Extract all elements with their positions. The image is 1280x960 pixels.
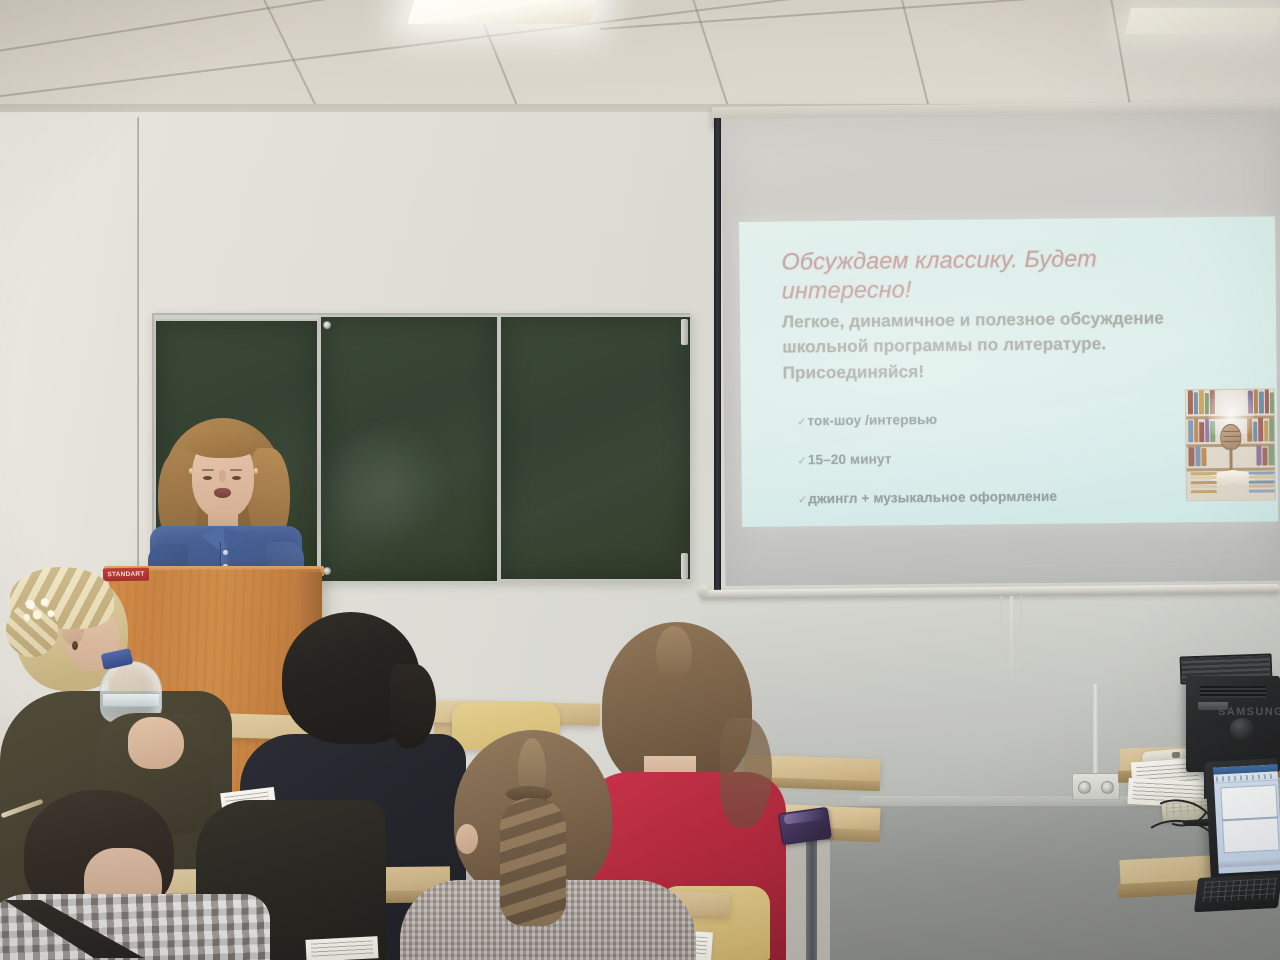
bookshelf-microphone-illustration xyxy=(1185,388,1276,501)
presenter-mouth-open xyxy=(214,488,231,498)
check-icon: ✓ xyxy=(797,415,806,428)
ceiling-light-panel xyxy=(407,0,600,24)
slide-bullet-list: ✓ ток-шоу /интервью ✓ 15–20 минут ✓ джин… xyxy=(797,409,1198,527)
window-statusbar xyxy=(1218,858,1280,867)
monitor-vent xyxy=(1200,686,1266,698)
presenter-nose xyxy=(219,470,226,482)
list-item: ✓ 15–20 минут xyxy=(797,448,1197,467)
presenter-shadow xyxy=(300,420,420,570)
remote-button[interactable] xyxy=(1172,752,1180,759)
laptop-keyboard[interactable] xyxy=(1203,878,1277,902)
chalkboard-pivot-top xyxy=(323,321,331,329)
braided-ponytail xyxy=(500,798,566,926)
projector-screen-side-rail xyxy=(714,118,721,598)
monitor-brand-label: SAMSUNG xyxy=(1218,706,1280,718)
desk-leg xyxy=(806,838,817,960)
list-item-label: ток-шоу /интервью xyxy=(807,412,937,428)
book-stack-left xyxy=(1191,472,1217,495)
list-item: ✓ джингл + музыкальное оформление xyxy=(798,487,1198,506)
earring xyxy=(254,468,258,474)
screen-bar-end-cap xyxy=(697,585,709,598)
chalkboard-hinge-bottom xyxy=(681,553,688,579)
printed-paper xyxy=(305,936,378,960)
book-stack-right xyxy=(1249,471,1275,494)
earring xyxy=(72,641,78,650)
suspended-ceiling xyxy=(0,0,1280,118)
presenter-fringe xyxy=(188,428,258,458)
projected-slide: Обсуждаем классику. Будет интересно! Лег… xyxy=(739,216,1278,527)
monitor-cable-port xyxy=(1230,718,1254,740)
microphone-stand xyxy=(1229,448,1232,472)
ceiling-light-panel-secondary xyxy=(1125,8,1280,34)
cable-conduit xyxy=(1093,684,1098,774)
ear xyxy=(456,824,478,854)
earring xyxy=(189,468,193,474)
list-item-label: джингл + музыкальное оформление xyxy=(808,489,1057,507)
screen-pull-strap[interactable] xyxy=(1010,596,1013,696)
shirt-button xyxy=(223,550,228,555)
hand-holding-bottle xyxy=(128,717,184,769)
presenter-at-podium xyxy=(150,418,302,578)
bottle-label xyxy=(103,693,159,707)
chalkboard-hinge-top xyxy=(681,319,688,345)
slide-title: Обсуждаем классику. Будет интересно! xyxy=(781,243,1182,305)
chalkboard-panel-right xyxy=(499,315,692,581)
list-item-label: 15–20 минут xyxy=(808,451,892,467)
audience-plaid-jacket xyxy=(0,790,290,960)
slide-title-line-2: интересно! xyxy=(782,272,1182,305)
slide-body-text: Легкое, динамичное и полезное обсуждение… xyxy=(782,305,1223,385)
slide-body-line-1: Легкое, динамичное и полезное обсуждение xyxy=(782,305,1222,335)
classroom-presentation-photo: Обсуждаем классику. Будет интересно! Лег… xyxy=(0,0,1280,960)
list-item: ✓ ток-шоу /интервью xyxy=(797,409,1197,428)
slide-body-line-3: Присоединяйся! xyxy=(782,356,1222,386)
microphone-icon xyxy=(1220,424,1241,450)
laptop-screen[interactable] xyxy=(1213,764,1280,873)
wall-power-outlet[interactable] xyxy=(1072,773,1120,800)
hair-part xyxy=(656,626,692,682)
check-icon: ✓ xyxy=(798,493,807,506)
check-icon: ✓ xyxy=(797,454,806,467)
audience-girl-with-braid xyxy=(400,730,700,960)
pearl-hair-ornament xyxy=(22,595,60,627)
slide-title-line-1: Обсуждаем классику. Будет xyxy=(781,243,1181,276)
